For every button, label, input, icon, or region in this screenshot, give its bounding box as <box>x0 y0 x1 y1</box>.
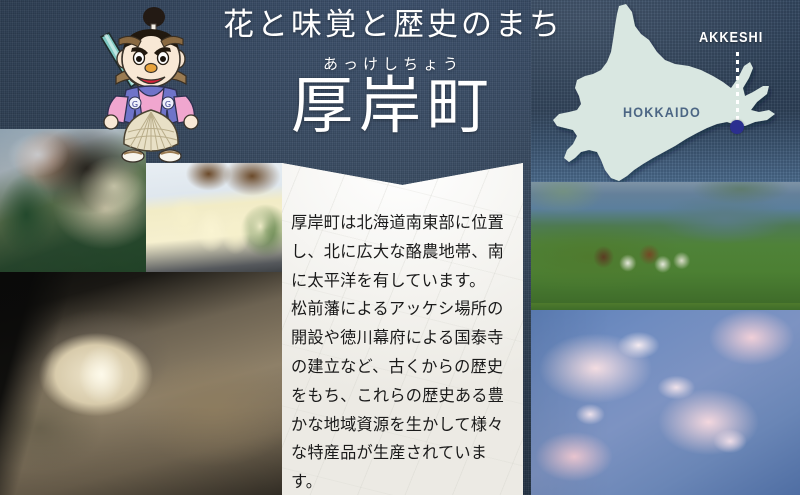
description-paragraph-1: 厚岸町は北海道南東部に位置し、北に広大な酪農地帯、南に太平洋を有しています。 <box>291 209 515 295</box>
photo-coastal-pasture-horses <box>531 182 800 303</box>
photo-oysters <box>0 272 282 495</box>
map-region-label: HOKKAIDO <box>623 104 701 120</box>
map-city-marker-dot <box>730 120 744 134</box>
description-text: 厚岸町は北海道南東部に位置し、北に広大な酪農地帯、南に太平洋を有しています。 松… <box>291 209 515 495</box>
photo-cherry-blossoms <box>531 303 800 495</box>
poster-canvas: HOKKAIDO AKKESHI 花と味覚と歴史のまち あっけしちょう 厚岸町 <box>0 0 800 495</box>
description-paragraph-2: 松前藩によるアッケシ場所の開設や徳川幕府による国泰寺の建立など、古くからの歴史を… <box>291 295 515 495</box>
description-panel: 厚岸町は北海道南東部に位置し、北に広大な酪農地帯、南に太平洋を有しています。 松… <box>282 163 523 495</box>
svg-text:G: G <box>132 100 138 109</box>
map-city-label: AKKESHI <box>699 30 763 46</box>
title-block: 花と味覚と歴史のまち あっけしちょう 厚岸町 <box>198 8 588 137</box>
photo-cheese-wedges <box>146 163 282 272</box>
map-pointer-dotted-line <box>736 52 739 124</box>
catchphrase: 花と味覚と歴史のまち <box>198 8 588 44</box>
town-name: 厚岸町 <box>198 75 588 137</box>
svg-text:G: G <box>165 100 171 109</box>
mascot-character-icon: G G <box>92 4 210 164</box>
